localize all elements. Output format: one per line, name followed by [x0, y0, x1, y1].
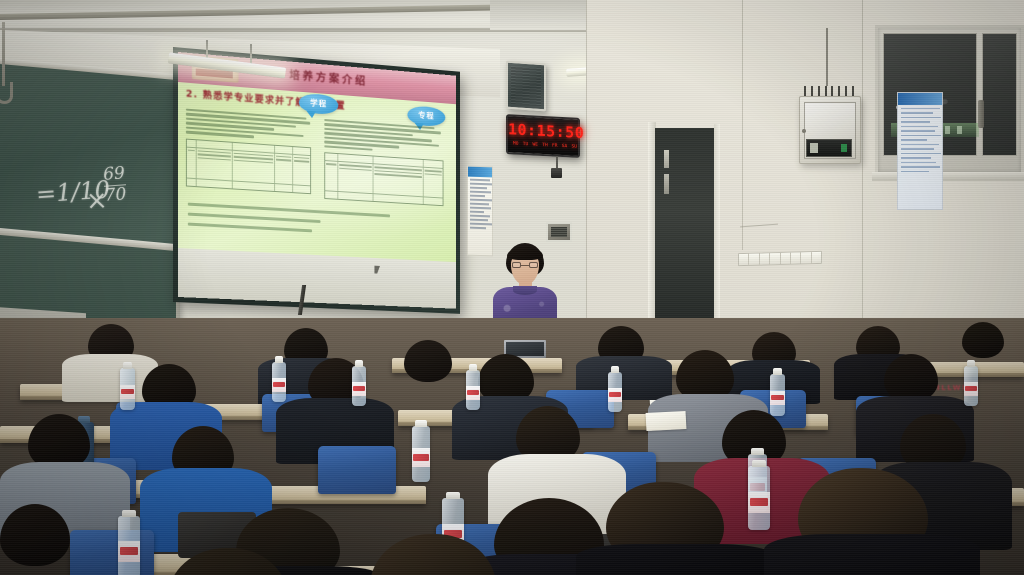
slide-footer-lines: [188, 203, 392, 244]
wall-speaker: [506, 61, 546, 112]
water-bottle[interactable]: [272, 362, 286, 402]
cabinet-latch[interactable]: [802, 129, 806, 133]
wall-seam: [862, 0, 863, 352]
lecturer-fringe: [507, 247, 543, 260]
water-bottle[interactable]: [118, 516, 140, 575]
door-jamb-right: [714, 124, 720, 340]
clock-time-display: 10:15:50: [508, 120, 582, 142]
window-sill: [872, 172, 1024, 181]
ceiling-hook-rod: [2, 22, 5, 86]
glasses-icon: [512, 262, 538, 269]
student-head: [0, 504, 70, 566]
slide-badge-right: 专程: [407, 105, 445, 127]
corridor-light: [664, 174, 669, 194]
projection-screen[interactable]: 培养方案介绍 2. 熟悉学专业要求并了解课程设置 学程 专程: [178, 52, 456, 309]
control-cabinet[interactable]: [799, 96, 861, 164]
ceiling-hook: [0, 82, 13, 104]
notes-page: [646, 411, 687, 431]
water-bottle[interactable]: [120, 368, 135, 410]
seating-area: KILLWINS: [0, 318, 1024, 575]
slide-right-table: [324, 152, 443, 206]
student-head: [884, 354, 938, 402]
water-bottle[interactable]: [770, 374, 785, 416]
wall-seam: [586, 0, 587, 352]
power-outlet-strip[interactable]: [738, 251, 822, 266]
water-bottle[interactable]: [964, 366, 978, 406]
speaker-grill: [511, 66, 541, 106]
student-head: [962, 322, 1004, 358]
wall-poster-right: [897, 92, 943, 210]
window-pane-right: [982, 33, 1017, 156]
presentation-slide: 培养方案介绍 2. 熟悉学专业要求并了解课程设置 学程 专程: [178, 52, 456, 262]
water-bottle[interactable]: [352, 366, 366, 406]
window-latch[interactable]: [978, 100, 984, 128]
wall-control-panel[interactable]: [546, 222, 572, 242]
classroom-photo: =1/10 × 69 70 培养方案介绍 2. 熟悉学专业要求并了解课程设置 学…: [0, 0, 1024, 575]
student-head: [404, 340, 452, 382]
chalk-numerator: 69: [103, 163, 126, 184]
slide-left-column: [186, 109, 311, 194]
slide-badge-left: 学程: [299, 93, 338, 116]
led-wall-clock: 10:15:50 MOTUWETHFRSASU: [506, 114, 580, 158]
chair[interactable]: [318, 446, 396, 494]
student-torso: [764, 534, 980, 575]
conduit-pipe: [826, 28, 828, 86]
water-bottle[interactable]: [412, 426, 430, 482]
student-torso: [576, 544, 776, 575]
clock-weekday-indicators: MOTUWETHFRSASU: [513, 141, 577, 149]
water-bottle[interactable]: [466, 370, 480, 410]
chalk-fraction: 69 70: [103, 165, 127, 205]
clock-plug: [551, 168, 562, 178]
corridor-light: [664, 150, 669, 168]
chalk-denominator: 70: [104, 184, 127, 205]
lecturer-collar: [513, 286, 537, 295]
chair[interactable]: [70, 530, 154, 575]
slide-right-column: [324, 119, 443, 206]
water-bottle[interactable]: [608, 372, 622, 412]
water-bottle[interactable]: [748, 466, 770, 530]
mouse-cursor-icon: [374, 266, 380, 274]
slide-left-table: [186, 138, 311, 194]
cabinet-display-window: [806, 139, 852, 157]
wall-seam: [742, 0, 743, 250]
